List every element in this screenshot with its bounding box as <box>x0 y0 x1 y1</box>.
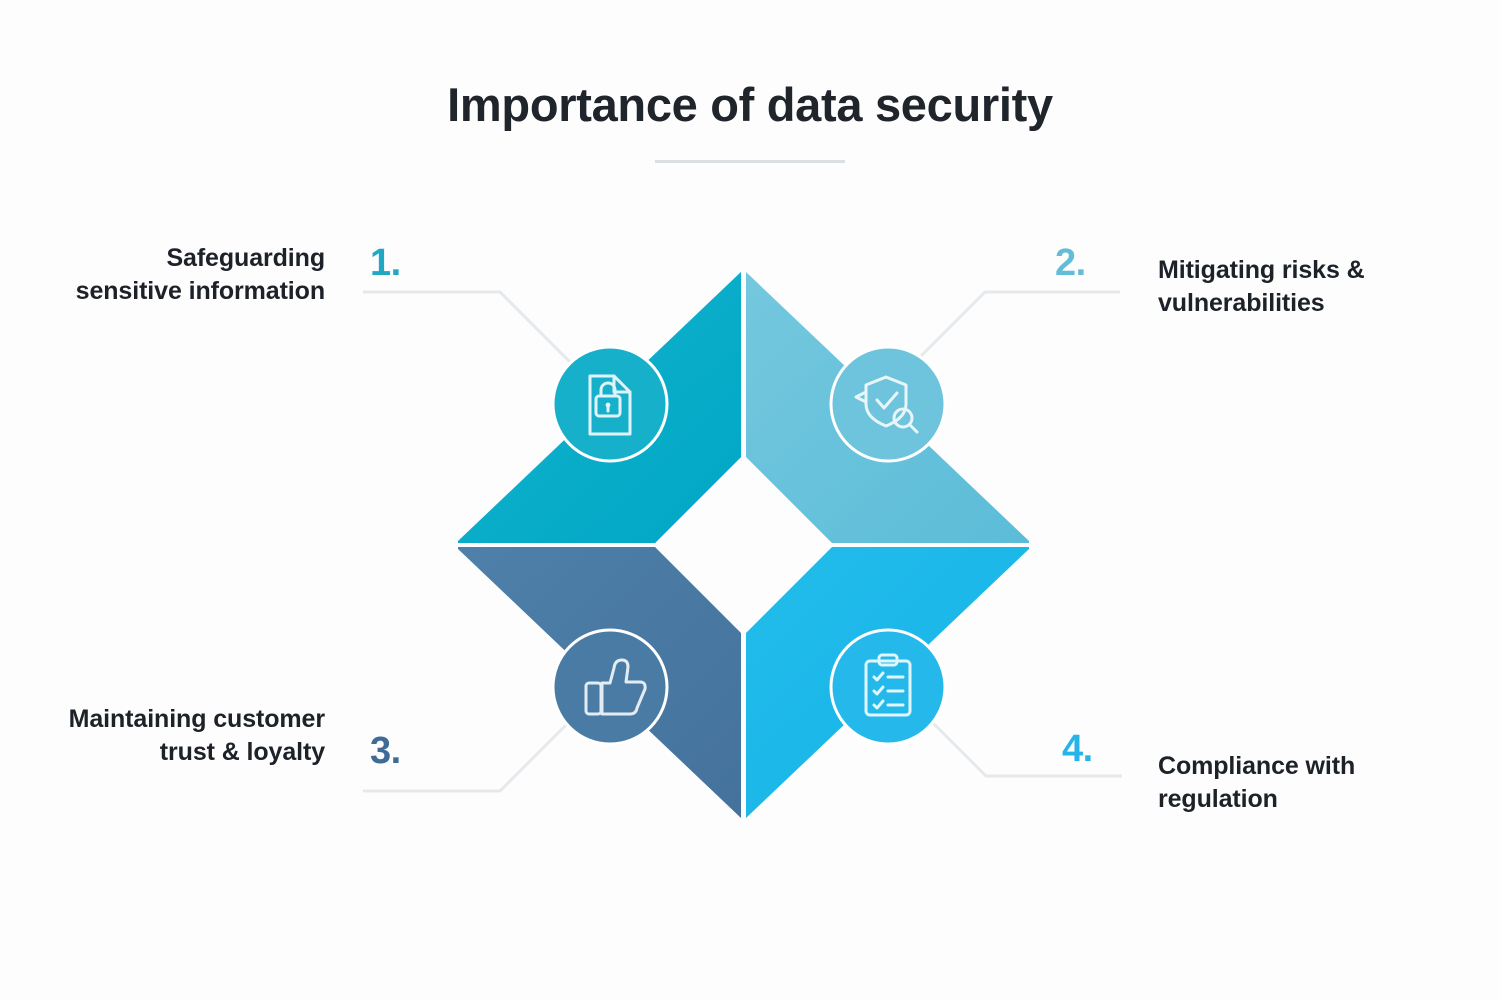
item-label-1: Safeguarding sensitive information <box>60 242 325 307</box>
icon-badge-1[interactable] <box>553 347 667 461</box>
connector-line-2 <box>915 292 1120 362</box>
icon-badge-4[interactable] <box>831 630 945 744</box>
step-number-1: 1. <box>370 244 401 282</box>
icon-badge-2[interactable] <box>831 347 945 461</box>
icon-badge-3[interactable] <box>553 630 667 744</box>
item-label-2: Mitigating risks & vulnerabilities <box>1158 254 1448 319</box>
infographic-page: Importance of data security <box>0 0 1500 1000</box>
diamond-diagram <box>0 0 1500 1000</box>
step-number-4: 4. <box>1062 730 1093 768</box>
step-number-3: 3. <box>370 732 401 770</box>
step-number-2: 2. <box>1055 244 1086 282</box>
diagram-stage <box>0 0 1500 1000</box>
item-label-3: Maintaining customer trust & loyalty <box>60 703 325 768</box>
connector-line-1 <box>363 292 570 362</box>
item-label-4: Compliance with regulation <box>1158 750 1448 815</box>
